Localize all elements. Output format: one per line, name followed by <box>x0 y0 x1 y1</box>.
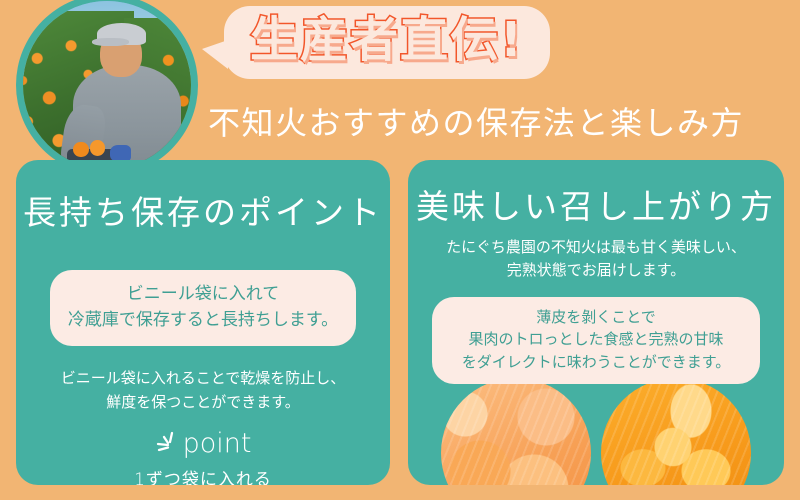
farmer-photo-frame <box>16 0 198 176</box>
panel-eating-tips: 美味しい召し上がり方 たにぐち農園の不知火は最も甘く美味しい、 完熟状態でお届け… <box>408 160 784 485</box>
photo-farmer-cap-brim <box>92 38 129 46</box>
left-note-line-2: 鮮度を保つことができます。 <box>16 390 390 414</box>
left-highlight-line-1: ビニール袋に入れて <box>60 282 346 308</box>
right-highlight-line-2: 果肉のトロっとした食感と完熟の甘味 <box>442 328 750 351</box>
panel-storage-tips: 長持ち保存のポイント ビニール袋に入れて 冷蔵庫で保存すると長持ちします。 ビニ… <box>16 160 390 485</box>
citrus-flesh-photo <box>601 378 751 485</box>
header-subtitle: 不知火おすすめの保存法と楽しみ方 <box>208 98 744 144</box>
right-subtitle-line-1: たにぐち農園の不知火は最も甘く美味しい、 <box>408 236 784 259</box>
photo-fruit-b <box>90 140 105 155</box>
sparkle-icon <box>155 431 181 457</box>
right-highlight-line-3: をダイレクトに味わうことができます。 <box>442 351 750 374</box>
point-row: point <box>155 430 252 457</box>
speech-bubble-text: 生産者直伝! <box>250 12 524 69</box>
fruit-photo-gallery <box>408 378 784 485</box>
point-label: point <box>183 430 252 457</box>
left-highlight-box: ビニール袋に入れて 冷蔵庫で保存すると長持ちします。 <box>50 270 356 346</box>
right-panel-title: 美味しい召し上がり方 <box>408 180 784 228</box>
left-note: ビニール袋に入れることで乾燥を防止し、 鮮度を保つことができます。 <box>16 366 390 414</box>
farmer-photo <box>23 1 191 169</box>
header: 生産者直伝! 不知火おすすめの保存法と楽しみ方 <box>0 0 800 160</box>
right-panel-subtitle: たにぐち農園の不知火は最も甘く美味しい、 完熟状態でお届けします。 <box>408 236 784 283</box>
speech-bubble: 生産者直伝! <box>224 6 550 79</box>
left-panel-title: 長持ち保存のポイント <box>16 186 390 234</box>
left-note-line-1: ビニール袋に入れることで乾燥を防止し、 <box>16 366 390 390</box>
peeled-citrus-photo <box>441 378 591 485</box>
right-highlight-line-1: 薄皮を剝くことで <box>442 306 750 329</box>
point-block: point 1ずつ袋に入れる <box>16 430 390 485</box>
right-highlight-box: 薄皮を剝くことで 果肉のトロっとした食感と完熟の甘味 をダイレクトに味わうことが… <box>432 297 760 385</box>
photo-fruit-a <box>73 142 88 157</box>
left-highlight-line-2: 冷蔵庫で保存すると長持ちします。 <box>60 308 346 334</box>
point-caption: 1ずつ袋に入れる <box>16 465 390 486</box>
right-subtitle-line-2: 完熟状態でお届けします。 <box>408 259 784 282</box>
